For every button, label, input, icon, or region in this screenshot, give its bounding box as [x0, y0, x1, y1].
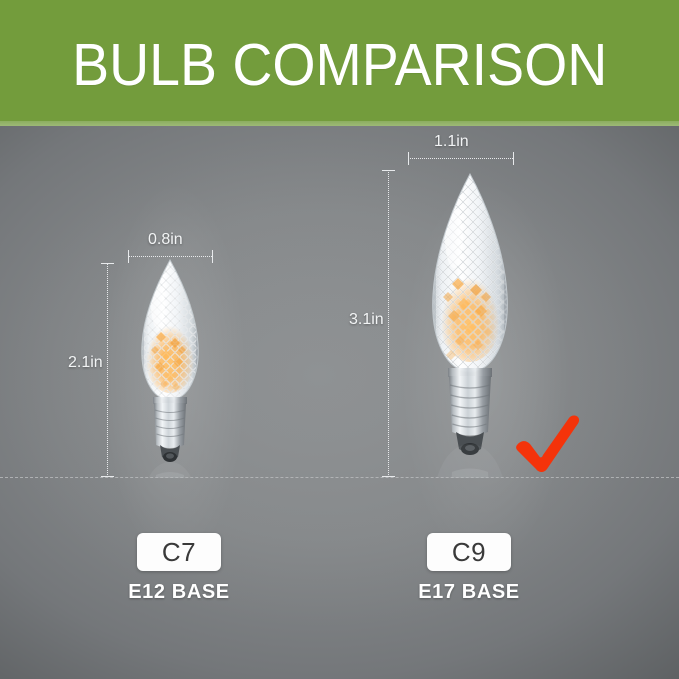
c9-width-dimension-line [408, 158, 513, 159]
c9-height-tick-bottom [382, 476, 395, 477]
c7-width-tick-right [212, 250, 213, 263]
bulb-c7-facets [130, 258, 210, 403]
c7-height-tick-bottom [101, 476, 114, 477]
bulb-c9-reflection [433, 444, 508, 478]
c9-width-tick-right [513, 152, 514, 165]
c7-width-tick-left [128, 250, 129, 263]
bulb-c7-reflection [142, 462, 198, 478]
c7-height-dimension-line [107, 263, 108, 477]
bulb-c7 [130, 258, 210, 478]
bulb-comparison-image: BULB COMPARISON 0.8in 2.1in [0, 0, 679, 679]
c9-height-tick-top [382, 170, 395, 171]
selection-check-icon [512, 413, 584, 475]
c7-height-tick-top [101, 263, 114, 264]
c7-width-dimension-line [128, 256, 212, 257]
c9-height-label: 3.1in [349, 311, 384, 329]
c7-height-label: 2.1in [68, 354, 103, 372]
header-bottom-highlight [0, 121, 679, 126]
c7-width-label: 0.8in [148, 231, 183, 249]
bulb-c9-svg [418, 172, 522, 478]
page-title: BULB COMPARISON [72, 36, 607, 95]
check-mark-shape [516, 415, 579, 472]
bulb-c7-svg [130, 258, 210, 478]
bulb-c7-screw-base [154, 403, 186, 462]
ground-baseline [0, 477, 679, 478]
c9-name-label: C9 [452, 539, 486, 565]
c7-name-label: C7 [162, 539, 196, 565]
bulb-c7-collar [153, 397, 187, 404]
c9-name-chip: C9 [427, 533, 511, 571]
c7-base-label: E12 BASE [99, 581, 259, 604]
bulb-c9 [418, 172, 522, 478]
bulb-c9-collar [448, 368, 492, 377]
bulb-c9-screw-base [449, 376, 491, 455]
product-photo-stage: 0.8in 2.1in [0, 126, 679, 679]
c9-base-label: E17 BASE [389, 581, 549, 604]
bulb-c9-facets [418, 172, 522, 377]
c9-width-tick-left [408, 152, 409, 165]
c9-width-label: 1.1in [434, 133, 469, 151]
c7-name-chip: C7 [137, 533, 221, 571]
c9-height-dimension-line [388, 170, 389, 477]
header-banner: BULB COMPARISON [0, 0, 679, 126]
